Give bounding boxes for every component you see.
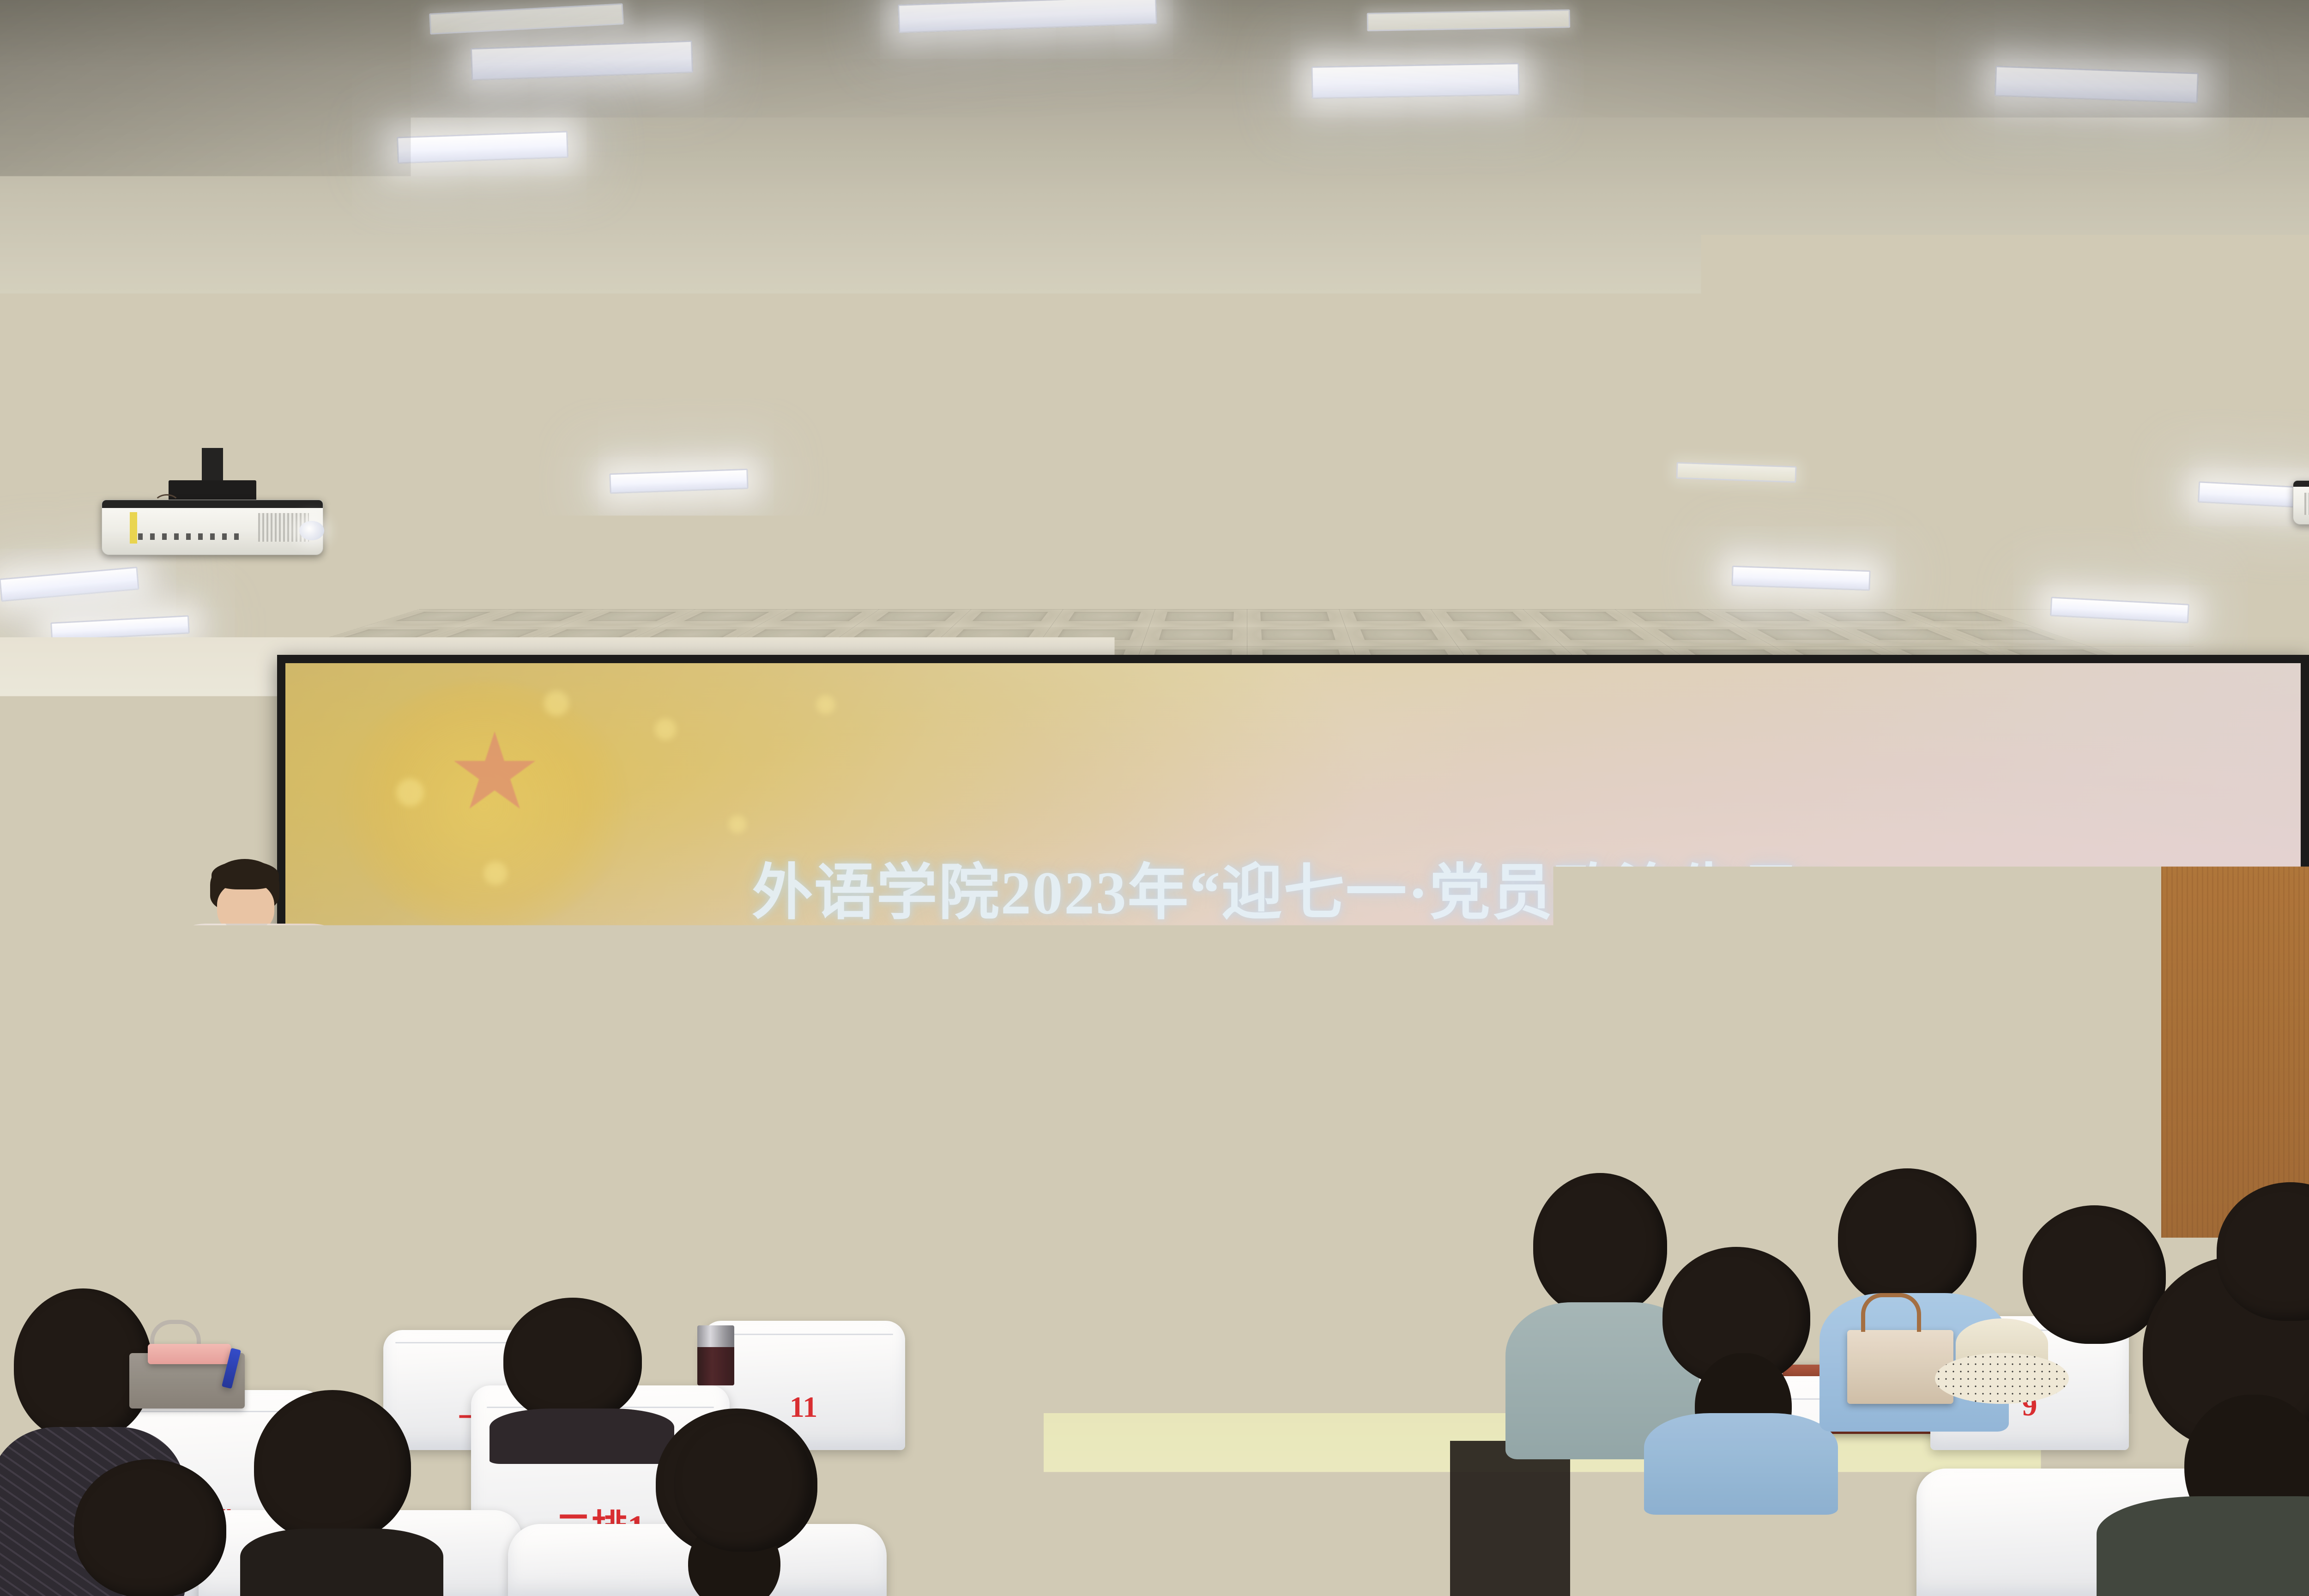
ceiling-light-panel — [1367, 9, 1571, 31]
ceiling-light-panel — [471, 41, 693, 81]
presentation-title-line1: 外语学院2023年“迎七一·党员政治生日” — [285, 843, 2301, 931]
paper-sheet — [1441, 1362, 1524, 1383]
wall-speaker-left — [5, 683, 106, 836]
bottle-body — [697, 1347, 734, 1385]
desk-understructure-right — [1450, 1441, 1570, 1596]
water-bottle — [697, 1325, 734, 1385]
audience-person-right-2 — [1644, 1247, 1838, 1505]
presenter-shirt — [166, 924, 351, 1048]
ceiling-light-panel — [2198, 481, 2309, 510]
ceiling-light-panel — [898, 0, 1157, 33]
presenter-shirt-placket — [244, 941, 253, 1038]
audience-torso — [2097, 1496, 2309, 1596]
audience-torso — [1644, 1413, 1838, 1515]
ceiling-projector-center — [1228, 402, 1469, 559]
projection-screen: ★ 外语学院2023年“迎七一·党员政治生日” 主题党日活动 2023年6月16… — [285, 663, 2301, 1159]
ceiling-light-panel — [609, 469, 748, 494]
audience-head — [674, 1413, 813, 1552]
handbag-pink-accent — [148, 1344, 231, 1364]
ceiling-light-panel — [429, 3, 624, 35]
presenter — [166, 859, 351, 1053]
handbag-handle-tan — [1861, 1293, 1921, 1332]
lecture-hall-photo: ★ 外语学院2023年“迎七一·党员政治生日” 主题党日活动 2023年6月16… — [0, 0, 2309, 1596]
ceiling-projector-right — [2293, 471, 2309, 554]
handbag-tan — [1847, 1330, 1953, 1404]
chair-cover-fold — [714, 1334, 893, 1335]
ceiling-light-panel — [1731, 566, 1870, 591]
presenter-hair-front — [212, 861, 279, 889]
audience-person-center-3 — [647, 1390, 840, 1596]
audience-head — [74, 1459, 226, 1596]
ceiling — [0, 0, 2309, 683]
ceiling-light-panel — [688, 579, 818, 599]
ceiling-light-panel — [1676, 462, 1796, 483]
bottle-cap — [697, 1325, 734, 1348]
stage-recessed-monitor — [1108, 1173, 1265, 1265]
audience-person-left-3 — [245, 1390, 439, 1596]
ceiling-light-panel — [1311, 63, 1519, 99]
podium-indicator-light — [67, 937, 88, 947]
audience-head — [2217, 1182, 2309, 1321]
sun-hat-brim — [1935, 1353, 2069, 1404]
audience-person-right-6 — [2198, 1182, 2309, 1376]
audience-torso — [240, 1529, 443, 1596]
ceiling-light-panel — [1995, 66, 2199, 103]
audience-head — [1838, 1168, 1977, 1307]
red-star-icon: ★ — [447, 719, 542, 825]
ceiling-projector-left — [92, 448, 332, 586]
ceiling-dome-speaker — [1441, 420, 1501, 444]
presentation-title-line2: 主题党日活动 — [285, 922, 2301, 1010]
audience-person-left-2 — [69, 1459, 263, 1596]
ceiling-light-panel — [397, 131, 568, 164]
audience-head — [503, 1298, 642, 1422]
presentation-date: 2023年6月16日 — [285, 1014, 2301, 1065]
audience-head — [254, 1390, 411, 1542]
party-badge — [278, 969, 290, 981]
projection-screen-frame: ★ 外语学院2023年“迎七一·党员政治生日” 主题党日活动 2023年6月16… — [277, 655, 2309, 1167]
ceiling-light-panel — [2050, 597, 2189, 623]
